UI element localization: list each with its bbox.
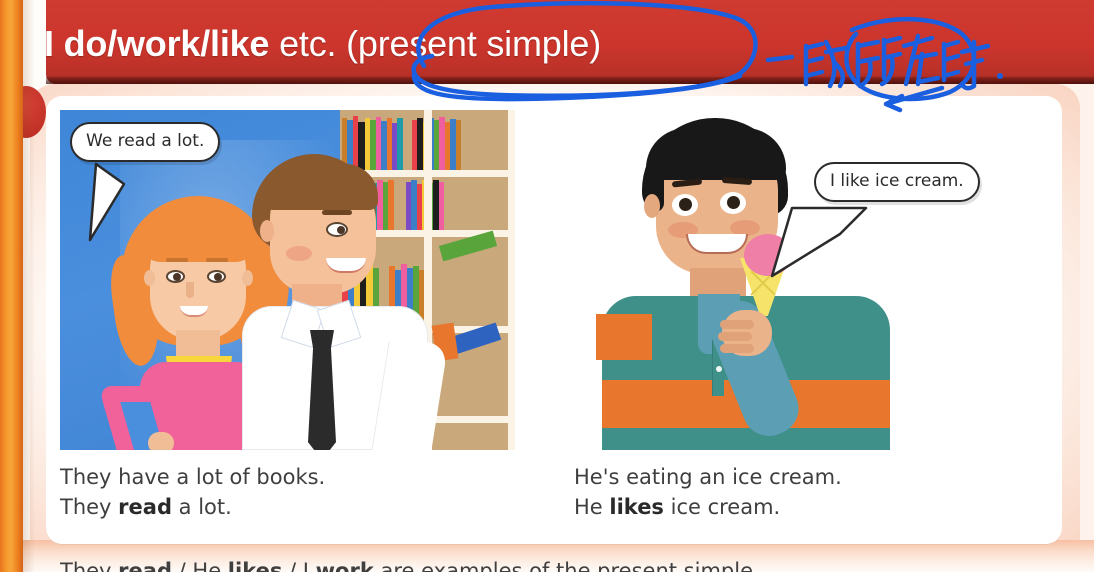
man-ear <box>260 220 274 242</box>
cut-line-bold-3: work <box>316 559 374 572</box>
illustrations-row: We read a lot. <box>46 96 1062 451</box>
woman-ear-left <box>144 270 155 286</box>
speech-bubble-tail-right <box>770 206 880 296</box>
icm-button <box>716 366 722 372</box>
woman-eye-right <box>207 270 226 283</box>
cut-line-pre: They <box>60 559 118 572</box>
cut-line-post: are examples of the present simple. <box>374 559 760 572</box>
textbook-page: I do/work/like etc. (present simple) <box>0 0 1094 572</box>
cut-line-bold-2: likes <box>228 559 283 572</box>
caption-library-line-1: They have a lot of books. <box>60 462 325 492</box>
page-title-rest: etc. (present simple) <box>269 23 601 64</box>
caption-ice-cream-line-1: He's eating an ice cream. <box>574 462 842 492</box>
cut-off-body-line: They read / He likes / I work are exampl… <box>60 556 820 572</box>
icm-sleeve-cuff <box>596 314 652 360</box>
man-tie-knot <box>310 330 334 350</box>
panel-library-illustration: We read a lot. <box>60 110 515 450</box>
icm-finger-2 <box>718 332 752 341</box>
caption-library: They have a lot of books. They read a lo… <box>60 462 325 522</box>
book-binding-strip <box>0 0 23 572</box>
caption-ice-cream: He's eating an ice cream. He likes ice c… <box>574 462 842 522</box>
examples-card: We read a lot. <box>46 96 1062 544</box>
caption-ice-cream-verb: likes <box>609 495 664 519</box>
cut-line-bold-1: read <box>118 559 172 572</box>
cut-line-mid-2: / I <box>282 559 315 572</box>
speech-bubble-left: We read a lot. <box>70 122 220 162</box>
icm-finger-1 <box>720 320 754 329</box>
icm-fringe <box>646 128 786 180</box>
speech-bubble-tail-left <box>78 162 158 262</box>
caption-library-post: a lot. <box>172 495 232 519</box>
page-title-bold: I do/work/like <box>44 23 269 64</box>
caption-ice-cream-pre: He <box>574 495 609 519</box>
icm-teal-stripe-lower <box>602 428 890 450</box>
caption-ice-cream-line-2: He likes ice cream. <box>574 492 842 522</box>
icm-eye-left <box>672 194 698 216</box>
icm-eye-right <box>720 192 746 214</box>
bookshelf-upright-2 <box>508 110 515 450</box>
caption-library-verb: read <box>118 495 172 519</box>
man-cheek <box>286 246 312 261</box>
cut-line-mid: / He <box>172 559 228 572</box>
icm-finger-3 <box>720 344 754 353</box>
page-title: I do/work/like etc. (present simple) <box>44 22 601 66</box>
woman-eye-left <box>166 270 185 283</box>
woman-brow-right <box>206 258 228 262</box>
panel-ice-cream-illustration: I like ice cream. <box>574 110 1048 450</box>
man-fringe <box>260 164 378 210</box>
captions-row: They have a lot of books. They read a lo… <box>46 456 1062 544</box>
icm-ear <box>644 194 660 218</box>
caption-library-line-2: They read a lot. <box>60 492 325 522</box>
character-man-library <box>230 154 440 450</box>
woman-hand <box>148 432 174 450</box>
man-eye <box>326 222 348 237</box>
caption-ice-cream-post: ice cream. <box>664 495 780 519</box>
caption-library-pre: They <box>60 495 118 519</box>
woman-nose <box>186 282 194 298</box>
woman-brow-left <box>166 258 188 262</box>
man-brow <box>322 210 352 215</box>
speech-bubble-right: I like ice cream. <box>814 162 980 202</box>
